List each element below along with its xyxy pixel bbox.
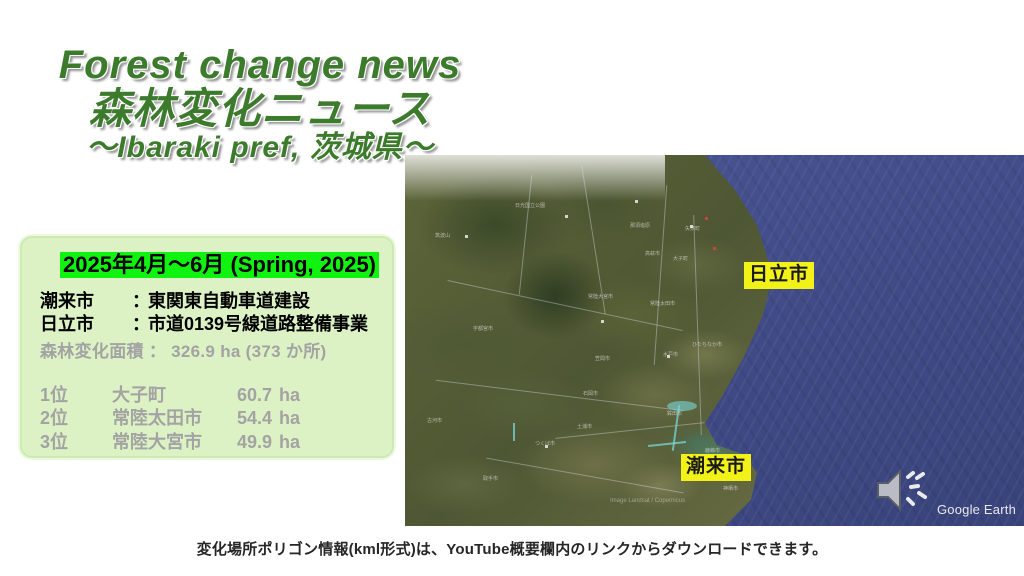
ranking-unit: ha xyxy=(272,407,300,430)
date-range-header: 2025年4月〜6月 (Spring, 2025) xyxy=(60,252,379,278)
ranking-name: 常陸太田市 xyxy=(112,407,224,430)
ranking-value: 60.7 xyxy=(224,384,272,407)
title-line-english: Forest change news xyxy=(0,44,520,86)
ranking-name: 大子町 xyxy=(112,384,224,407)
satellite-map-panel[interactable]: 日光国立公園那須塩原矢祭町大子町高萩市筑波山常陸太田市常陸大宮市水戸市ひたちなか… xyxy=(405,155,1024,526)
project-description: 市道0139号線道路整備事業 xyxy=(148,313,368,336)
map-place-label-itako: 潮来市 xyxy=(681,454,751,481)
footer-caption: 変化場所ポリゴン情報(kml形式)は、YouTube概要欄内のリンクからダウンロ… xyxy=(0,538,1024,559)
ranking-name: 常陸大宮市 xyxy=(112,431,224,454)
ranking-value: 49.9 xyxy=(224,431,272,454)
page-title: Forest change news 森林変化ニュース 〜Ibaraki pre… xyxy=(0,44,520,164)
project-row: 潮来市：東関東自動車道建設 xyxy=(22,290,392,313)
project-colon: ： xyxy=(132,313,148,336)
project-colon: ： xyxy=(132,290,148,313)
ranking-rank: 2位 xyxy=(40,407,112,430)
ranking-row: 2位常陸太田市54.4ha xyxy=(40,407,392,430)
ranking-row: 3位常陸大宮市49.9ha xyxy=(40,431,392,454)
project-row: 日立市：市道0139号線道路整備事業 xyxy=(22,313,392,336)
ranking-unit: ha xyxy=(272,431,300,454)
ranking-rank: 3位 xyxy=(40,431,112,454)
project-list: 潮来市：東関東自動車道建設日立市：市道0139号線道路整備事業 xyxy=(22,290,392,336)
municipality-ranking-list: 1位大子町60.7ha2位常陸太田市54.4ha3位常陸大宮市49.9ha xyxy=(40,384,392,454)
ranking-unit: ha xyxy=(272,384,300,407)
speaker-icon[interactable] xyxy=(874,467,932,518)
ranking-value: 54.4 xyxy=(224,407,272,430)
map-attribution-text: Image Landsat / Copernicus xyxy=(610,498,685,504)
watermark-brand: Google xyxy=(937,502,980,517)
forest-change-area-summary: 森林変化面積 ： 326.9 ha (373 か所) xyxy=(40,337,392,362)
info-panel: 2025年4月〜6月 (Spring, 2025) 潮来市：東関東自動車道建設日… xyxy=(20,236,394,458)
title-line-japanese: 森林変化ニュース xyxy=(0,87,520,132)
project-city: 潮来市 xyxy=(22,290,132,313)
watermark-product: Earth xyxy=(984,502,1016,517)
project-description: 東関東自動車道建設 xyxy=(148,290,310,313)
google-earth-watermark: Google Earth xyxy=(937,502,1016,517)
ranking-rank: 1位 xyxy=(40,384,112,407)
project-city: 日立市 xyxy=(22,313,132,336)
ranking-row: 1位大子町60.7ha xyxy=(40,384,392,407)
map-place-label-hitachi: 日立市 xyxy=(744,262,814,289)
